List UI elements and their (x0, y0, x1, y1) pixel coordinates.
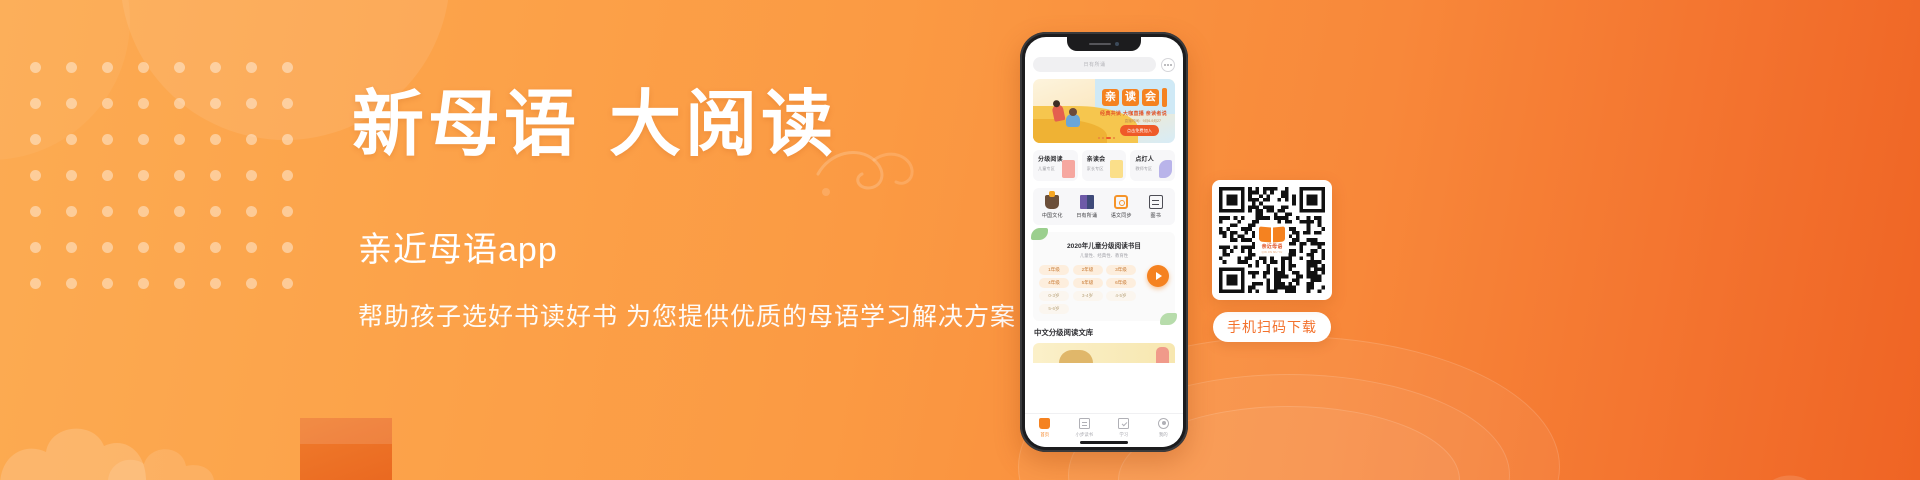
leaf-ornament-icon (1031, 228, 1048, 240)
download-button[interactable]: 手机扫码下载 (1213, 312, 1331, 342)
grid-dot (210, 134, 221, 145)
home-icon (1039, 418, 1050, 429)
grid-dot (66, 206, 77, 217)
search-input[interactable]: 日有所诵 (1033, 57, 1156, 72)
grid-dot (102, 98, 113, 109)
grid-dot (210, 62, 221, 73)
app-content: 日有所诵 亲 读 会 (1025, 37, 1183, 363)
download-button-label: 手机扫码下载 (1227, 317, 1317, 337)
grid-dot (30, 62, 41, 73)
grid-dot (30, 98, 41, 109)
grid-dot (210, 242, 221, 253)
grid-dot (246, 170, 257, 181)
card-book-icon (1110, 160, 1123, 178)
app-name: 亲近母语app (358, 222, 1012, 271)
grid-dot (66, 62, 77, 73)
decorative-dot-grid (30, 62, 318, 314)
grade-tag[interactable]: 5年级 (1073, 278, 1103, 288)
qr-logo-name: 亲近母语 (1262, 243, 1283, 250)
copy-block: 新母语 大阅读 亲近母语app 帮助孩子选好书读好书 为您提供优质的母语学习解决… (352, 88, 1012, 333)
card-book-icon (1062, 160, 1075, 178)
grid-dot (174, 278, 185, 289)
tagline: 帮助孩子选好书读好书 为您提供优质的母语学习解决方案 (358, 297, 1012, 333)
grid-dot (246, 278, 257, 289)
grid-dot (246, 62, 257, 73)
promo-banner: 新母语 大阅读 亲近母语app 帮助孩子选好书读好书 为您提供优质的母语学习解决… (0, 0, 1920, 480)
front-camera-icon (1115, 42, 1119, 46)
promo-carousel[interactable]: 亲 读 会 经典共读 大咖直播 亲读者说 直播时间：9月6-9月27 点击免费加… (1033, 79, 1175, 143)
grid-dot (282, 242, 293, 253)
headline: 新母语 大阅读 (352, 88, 1012, 160)
grid-dot (102, 242, 113, 253)
grid-dot (30, 170, 41, 181)
grid-dot (282, 170, 293, 181)
entry-card-graded-reading[interactable]: 分级阅读 儿童专区 (1033, 150, 1078, 181)
quick-link-recite[interactable]: 日有所诵 (1070, 195, 1105, 219)
card-lamp-icon (1159, 160, 1172, 178)
quick-link-culture[interactable]: 中国文化 (1035, 195, 1070, 219)
grid-dot (210, 98, 221, 109)
quick-link-books[interactable]: 图书 (1139, 195, 1174, 219)
grid-dot (102, 134, 113, 145)
tab-label: 学习 (1119, 432, 1128, 438)
age-tag[interactable]: 0-3岁 (1039, 291, 1069, 301)
age-tag[interactable]: 4-5岁 (1106, 291, 1136, 301)
download-block: 亲近母语 QIN JIN MU YU 手机扫码下载 (1212, 180, 1332, 342)
age-tag[interactable]: 5-6岁 (1039, 304, 1069, 314)
play-button-icon[interactable] (1147, 265, 1169, 287)
tab-profile[interactable]: 我的 (1144, 418, 1184, 438)
grid-dot (246, 242, 257, 253)
entry-cards: 分级阅读 儿童专区 亲读会 家长专区 点灯人 教师专区 (1033, 150, 1175, 181)
promo-char-3: 会 (1142, 89, 1159, 106)
grid-dot (102, 170, 113, 181)
book-logo-icon (1259, 227, 1285, 242)
grid-dot (66, 242, 77, 253)
grid-dot (246, 98, 257, 109)
grid-dot (66, 98, 77, 109)
grid-dot (174, 242, 185, 253)
grid-dot (246, 206, 257, 217)
phone-mockup: 日有所诵 亲 读 会 (1020, 32, 1188, 452)
promo-char-1: 亲 (1102, 89, 1119, 106)
phone-screen: 日有所诵 亲 读 会 (1025, 37, 1183, 447)
study-icon (1118, 418, 1129, 429)
tab-label: 小步读书 (1075, 432, 1093, 438)
qr-code-card[interactable]: 亲近母语 QIN JIN MU YU (1212, 180, 1332, 300)
grid-dot (138, 134, 149, 145)
quick-link-label: 图书 (1151, 212, 1161, 219)
grid-dot (66, 134, 77, 145)
grid-dot (138, 98, 149, 109)
grid-dot (102, 278, 113, 289)
cloud-decoration-right (1709, 440, 1919, 480)
read-icon (1079, 418, 1090, 429)
qr-logo-pinyin: QIN JIN MU YU (1262, 251, 1283, 254)
tab-label: 我的 (1159, 432, 1168, 438)
grid-dot (246, 134, 257, 145)
qr-center-logo: 亲近母语 QIN JIN MU YU (1255, 225, 1289, 255)
grade-tag-list: 1年级 2年级 3年级 4年级 5年级 6年级 0-3岁 3-4岁 4-5岁 5… (1039, 265, 1169, 314)
tab-read[interactable]: 小步读书 (1065, 418, 1105, 438)
phone-notch (1067, 37, 1141, 51)
grade-tag[interactable]: 2年级 (1073, 265, 1103, 275)
home-indicator (1080, 441, 1128, 444)
grade-tag[interactable]: 4年级 (1039, 278, 1069, 288)
grid-dot (282, 278, 293, 289)
grid-dot (138, 170, 149, 181)
grid-dot (138, 242, 149, 253)
cloud-decoration-left (0, 396, 220, 480)
grid-dot (210, 206, 221, 217)
quick-link-sync[interactable]: 语文同步 (1104, 195, 1139, 219)
promo-time: 直播时间：9月6-9月27 (1125, 119, 1161, 124)
quick-link-label: 日有所诵 (1076, 212, 1097, 219)
quick-links: 中国文化 日有所诵 语文同步 图书 (1033, 188, 1175, 225)
grid-dot (66, 170, 77, 181)
grade-tag[interactable]: 3年级 (1106, 265, 1136, 275)
grid-dot (30, 134, 41, 145)
grid-dot (138, 206, 149, 217)
promo-join-button[interactable]: 点击免费加入 (1120, 125, 1159, 136)
library-section-title: 中文分级阅读文库 (1034, 327, 1175, 338)
grade-tag[interactable]: 1年级 (1039, 265, 1069, 275)
promo-bookmark-icon (1162, 88, 1167, 107)
grid-dot (174, 170, 185, 181)
grid-dot (30, 206, 41, 217)
library-shelf-illustration[interactable] (1033, 343, 1175, 363)
grid-dot (174, 98, 185, 109)
grid-dot (102, 62, 113, 73)
carousel-dots[interactable] (1098, 137, 1115, 139)
grid-dot (102, 206, 113, 217)
promo-subtitle: 经典共读 大咖直播 亲读者说 (1100, 110, 1167, 117)
grid-dot (174, 206, 185, 217)
grid-dot (282, 206, 293, 217)
grid-dot (282, 62, 293, 73)
tab-home[interactable]: 首页 (1025, 418, 1065, 438)
entry-card-teacher[interactable]: 点灯人 教师专区 (1130, 150, 1175, 181)
grid-dot (138, 62, 149, 73)
grid-dot (210, 170, 221, 181)
decorative-cube (300, 418, 392, 480)
leaf-ornament-icon (1160, 313, 1177, 325)
grid-dot (30, 242, 41, 253)
search-placeholder: 日有所诵 (1083, 61, 1105, 68)
grid-dot (282, 134, 293, 145)
tab-study[interactable]: 学习 (1104, 418, 1144, 438)
culture-icon (1045, 195, 1059, 209)
recite-icon (1080, 195, 1094, 209)
search-row: 日有所诵 (1033, 57, 1175, 72)
promo-char-2: 读 (1122, 89, 1139, 106)
ellipsis-icon[interactable] (1161, 58, 1175, 72)
decorative-circle-small (0, 0, 130, 160)
booklist-subtitle: 儿童性、经典性、教育性 (1039, 253, 1169, 259)
quick-link-label: 语文同步 (1111, 212, 1132, 219)
grid-dot (282, 98, 293, 109)
grid-dot (210, 278, 221, 289)
book-icon (1149, 195, 1163, 209)
grid-dot (174, 134, 185, 145)
profile-icon (1158, 418, 1169, 429)
speaker-grille (1089, 43, 1111, 46)
age-tag[interactable]: 3-4岁 (1073, 291, 1103, 301)
entry-card-parent-club[interactable]: 亲读会 家长专区 (1082, 150, 1127, 181)
sync-icon (1114, 195, 1128, 209)
grid-dot (66, 278, 77, 289)
promo-title: 亲 读 会 (1102, 88, 1167, 107)
grade-tag[interactable]: 6年级 (1106, 278, 1136, 288)
booklist-module: 2020年儿童分级阅读书目 儿童性、经典性、教育性 1年级 2年级 3年级 4年… (1033, 232, 1175, 321)
grid-dot (174, 62, 185, 73)
grid-dot (30, 278, 41, 289)
illustration-child-blue (1066, 114, 1080, 127)
grid-dot (138, 278, 149, 289)
quick-link-label: 中国文化 (1042, 212, 1063, 219)
booklist-title: 2020年儿童分级阅读书目 (1039, 240, 1169, 250)
tab-label: 首页 (1040, 432, 1049, 438)
